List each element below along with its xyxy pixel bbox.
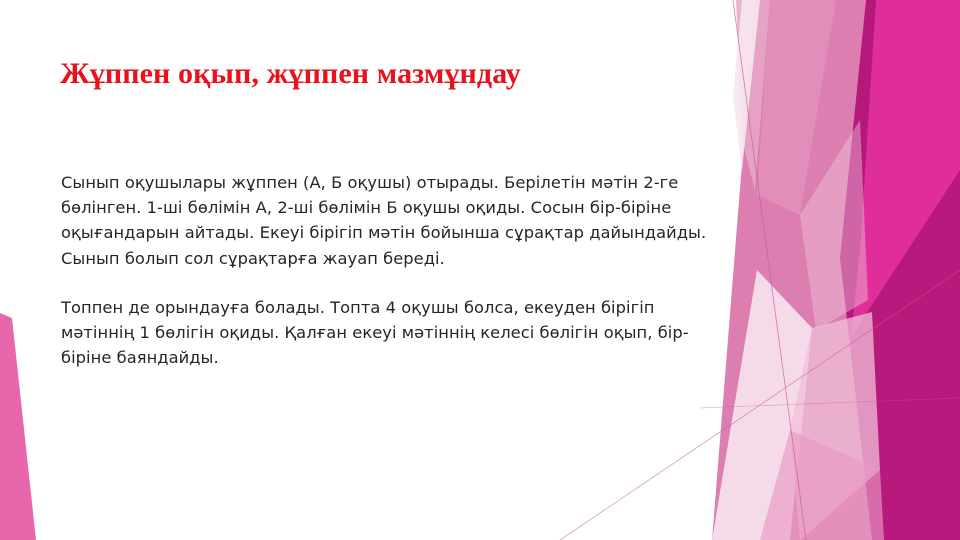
slide-content: Жұппен оқып, жұппен мазмұндау Сынып оқуш… <box>0 0 960 540</box>
slide-body: Сынып оқушылары жұппен (А, Б оқушы) отыр… <box>61 170 729 370</box>
body-paragraph-2: Топпен де орындауға болады. Топта 4 оқуш… <box>61 295 729 371</box>
body-paragraph-1: Сынып оқушылары жұппен (А, Б оқушы) отыр… <box>61 170 729 271</box>
slide-title: Жұппен оқып, жұппен мазмұндау <box>60 57 720 92</box>
slide-canvas: Жұппен оқып, жұппен мазмұндау Сынып оқуш… <box>0 0 960 540</box>
